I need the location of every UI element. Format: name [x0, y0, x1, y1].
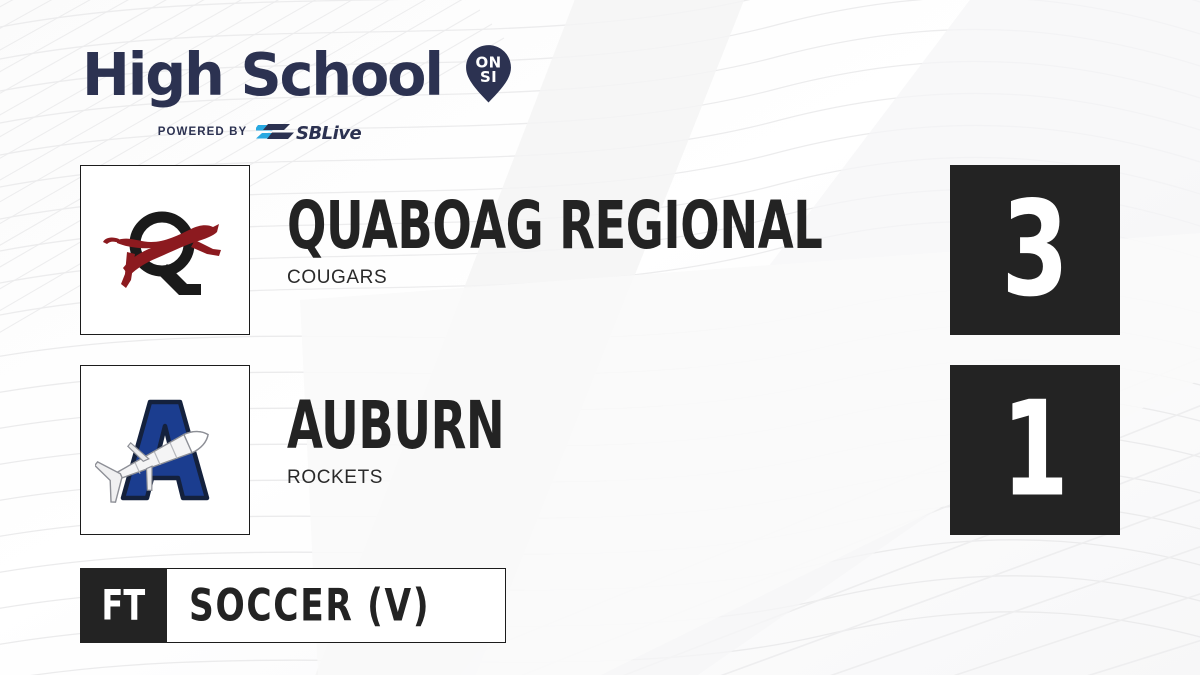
pin-line2-text: SI: [480, 68, 497, 86]
team-logo-box: [80, 365, 250, 535]
team-score-box: 1: [950, 365, 1120, 535]
team-name: AUBURN: [287, 395, 847, 457]
team-score: 3: [1001, 184, 1068, 315]
game-period-label: FT: [102, 581, 146, 629]
game-status-bar: FT SOCCER (V): [80, 568, 506, 643]
sport-label-box: SOCCER (V): [167, 568, 506, 643]
team-logo-box: [80, 165, 250, 335]
team-mascot: COUGARS: [287, 267, 987, 289]
sport-label: SOCCER (V): [189, 580, 430, 631]
team-info: AUBURN ROCKETS: [287, 395, 987, 489]
brand-logo-row: High School ON SI: [82, 34, 512, 116]
powered-by-label: POWERED BY: [158, 126, 248, 138]
brand-lockup: High School ON SI POWERED BY SBLive: [82, 34, 512, 143]
team-score: 1: [1001, 384, 1068, 515]
game-period-badge: FT: [80, 568, 167, 643]
team-name: QUABOAG REGIONAL: [287, 195, 847, 257]
cougar-q-logo-icon: [95, 180, 235, 320]
team-score-box: 3: [950, 165, 1120, 335]
rocket-a-logo-icon: [95, 380, 235, 520]
brand-wordmark: High School: [82, 46, 442, 104]
team-mascot: ROCKETS: [287, 467, 987, 489]
team-info: QUABOAG REGIONAL COUGARS: [287, 195, 987, 289]
on-si-pin-icon: ON SI: [465, 32, 512, 116]
powered-by-row: POWERED BY SBLive: [82, 121, 512, 143]
sblive-logo: SBLive: [256, 121, 374, 143]
sblive-text: SBLive: [296, 123, 362, 143]
